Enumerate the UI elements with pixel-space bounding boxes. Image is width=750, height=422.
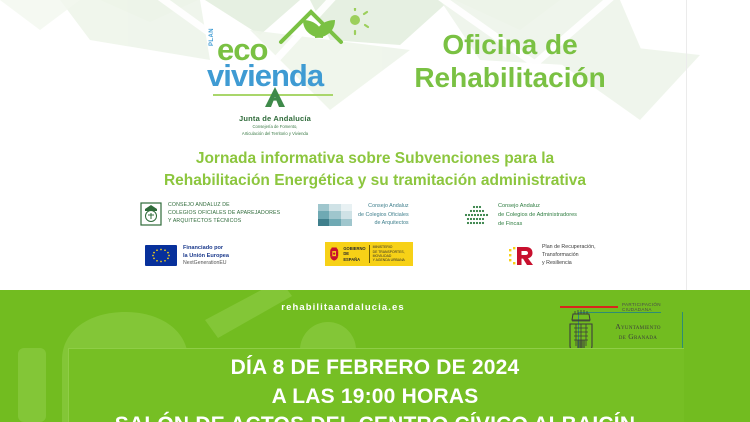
fincas-line-3: de Fincas	[498, 220, 577, 229]
sponsor-consejo-aparejadores: CONSEJO ANDALUZ DE COLEGIOS OFICIALES DE…	[140, 202, 280, 226]
fincas-line-2: de Colegios de Administradores	[498, 211, 577, 220]
arquitectos-line-2: de Colegios Oficiales	[358, 211, 409, 220]
vertical-divider-line	[686, 0, 687, 290]
prtr-label: Plan de Recuperación, Transformación y R…	[542, 244, 596, 268]
sponsor-administradores-fincas: Consejo Andaluz de Colegios de Administr…	[462, 202, 577, 229]
ayuntamiento-line-2: de Granada	[602, 332, 674, 342]
participacion-ciudadana-label: PARTICIPACIÓN CIUDADANA	[622, 302, 690, 312]
aparejadores-line-2: COLEGIOS OFICIALES DE APAREJADORES	[168, 210, 280, 218]
arquitectos-line-1: Consejo Andaluz	[358, 202, 409, 211]
title-line-1: Oficina de	[360, 28, 660, 61]
event-venue: SALÓN DE ACTOS DEL CENTRO CÍVICO ALBAICÍ…	[0, 411, 750, 422]
subtitle-line-1: Jornada informativa sobre Subvenciones p…	[60, 148, 690, 170]
ministerio-line-3: Y AGENDA URBANA	[373, 258, 410, 262]
subtitle-line-2: Rehabilitación Energética y su tramitaci…	[60, 170, 690, 192]
eu-line-1: Financiado por	[183, 244, 229, 252]
ministerio-label: MINISTERIO DE TRANSPORTES, MOVILIDAD Y A…	[369, 245, 410, 263]
prtr-line-2: Transformación	[542, 252, 596, 260]
aparejadores-line-1: CONSEJO ANDALUZ DE	[168, 202, 280, 210]
eu-label: Financiado por la Unión Europea NextGene…	[183, 244, 229, 268]
sponsor-union-europea: Financiado por la Unión Europea NextGene…	[145, 244, 229, 268]
event-time: A LAS 19:00 HORAS	[0, 383, 750, 412]
aparejadores-line-3: Y ARQUITECTOS TÉCNICOS	[168, 218, 280, 226]
plan-eco-vivienda-logo: PLAN eco vivienda	[205, 16, 350, 86]
poster-canvas: PLAN eco vivienda Junta de Andalucía Con…	[0, 0, 750, 422]
eu-line-2: la Unión Europea	[183, 252, 229, 260]
aparejadores-label: CONSEJO ANDALUZ DE COLEGIOS OFICIALES DE…	[168, 202, 280, 225]
junta-de-andalucia-logo: Junta de Andalucía Consejería de Fomento…	[215, 86, 335, 128]
arquitectos-grid-icon	[318, 204, 352, 226]
fincas-label: Consejo Andaluz de Colegios de Administr…	[498, 202, 577, 229]
sponsor-logo-grid: CONSEJO ANDALUZ DE COLEGIOS OFICIALES DE…	[0, 198, 686, 282]
sponsor-gobierno-espana: GOBIERNO DE ESPAÑA MINISTERIO DE TRANSPO…	[325, 242, 413, 266]
junta-arch-icon	[215, 86, 335, 108]
arquitectos-line-3: de Arquitectos	[358, 219, 409, 228]
ministerio-line-2: DE TRANSPORTES, MOVILIDAD	[373, 250, 410, 259]
ayuntamiento-name: Ayuntamiento de Granada	[602, 322, 674, 343]
ayuntamiento-line-1: Ayuntamiento	[602, 322, 674, 332]
gobierno-line-2: DE ESPAÑA	[343, 251, 365, 262]
event-date: DÍA 8 DE FEBRERO DE 2024	[0, 354, 750, 383]
sponsor-consejo-arquitectos: Consejo Andaluz de Colegios Oficiales de…	[318, 202, 409, 228]
prtr-line-3: y Resiliencia	[542, 260, 596, 268]
sponsor-plan-recuperacion: Plan de Recuperación, Transformación y R…	[508, 244, 596, 268]
fincas-dot-pyramid-icon	[462, 204, 492, 226]
ayuntamiento-red-rule	[560, 306, 618, 308]
title-line-2: Rehabilitación	[360, 61, 660, 94]
junta-name: Junta de Andalucía	[215, 114, 335, 123]
gobierno-espana-box: GOBIERNO DE ESPAÑA MINISTERIO DE TRANSPO…	[325, 242, 413, 266]
event-subtitle: Jornada informativa sobre Subvenciones p…	[60, 148, 690, 192]
fincas-line-1: Consejo Andaluz	[498, 202, 577, 211]
prtr-line-1: Plan de Recuperación,	[542, 244, 596, 252]
event-details: DÍA 8 DE FEBRERO DE 2024 A LAS 19:00 HOR…	[0, 354, 750, 422]
prtr-r-icon	[508, 245, 536, 267]
escudo-espana-icon	[328, 244, 340, 264]
aparejadores-crest-icon	[140, 202, 162, 226]
junta-consejeria-line1: Consejería de Fomento,	[215, 124, 335, 130]
arquitectos-label: Consejo Andaluz de Colegios Oficiales de…	[358, 202, 409, 228]
page-title: Oficina de Rehabilitación	[360, 28, 660, 94]
junta-consejeria-line2: Articulación del Territorio y Vivienda	[215, 131, 335, 137]
eu-nextgeneration-label: NextGenerationEU	[183, 260, 229, 268]
eu-flag-icon	[145, 245, 177, 266]
gobierno-label: GOBIERNO DE ESPAÑA	[343, 246, 365, 262]
plan-label: PLAN	[209, 28, 215, 46]
green-footer-band: rehabilitaandalucia.es PARTICIPACIÓN CIU…	[0, 290, 750, 422]
